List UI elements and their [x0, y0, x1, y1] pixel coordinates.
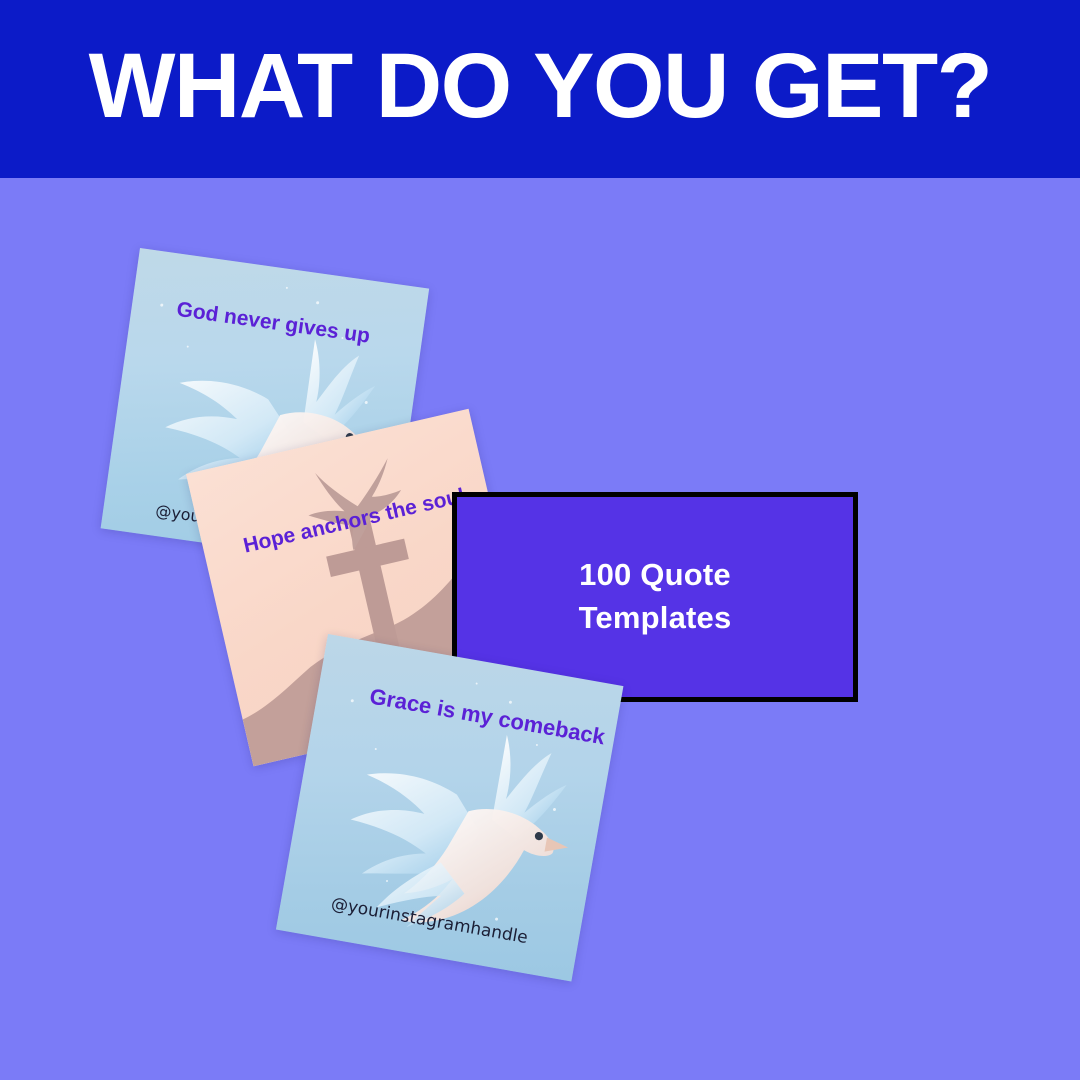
- templates-label-line-1: 100 Quote: [579, 554, 731, 597]
- sparkle-dot: [475, 682, 477, 684]
- quote-card-3-inner: Grace is my comeback @yourinstagramhandl…: [276, 634, 624, 982]
- sparkle-dot: [375, 748, 377, 750]
- sparkle-dot: [351, 699, 354, 702]
- poster-canvas: WHAT DO YOU GET?: [0, 0, 1080, 1080]
- sparkle-dot: [386, 880, 388, 882]
- page-title: WHAT DO YOU GET?: [89, 40, 992, 132]
- sparkle-dot: [495, 917, 498, 920]
- quote-card-1-text: God never gives up: [175, 298, 371, 348]
- sparkle-dot: [286, 287, 288, 289]
- templates-label-line-2: Templates: [579, 597, 732, 640]
- quote-card-3[interactable]: Grace is my comeback @yourinstagramhandl…: [276, 634, 624, 982]
- header-band: WHAT DO YOU GET?: [0, 0, 1080, 178]
- sparkle-dot: [316, 301, 319, 304]
- sparkle-dot: [187, 345, 189, 347]
- sparkle-dot: [365, 401, 368, 404]
- sparkle-dot: [160, 303, 163, 306]
- quote-card-3-handle: @yourinstagramhandle: [329, 894, 529, 948]
- quote-card-3-text: Grace is my comeback: [368, 684, 607, 749]
- sparkle-dot: [509, 700, 512, 703]
- sparkle-dot: [536, 744, 538, 746]
- quote-card-2-text: Hope anchors the soul: [241, 484, 467, 557]
- sparkle-dot: [553, 808, 556, 811]
